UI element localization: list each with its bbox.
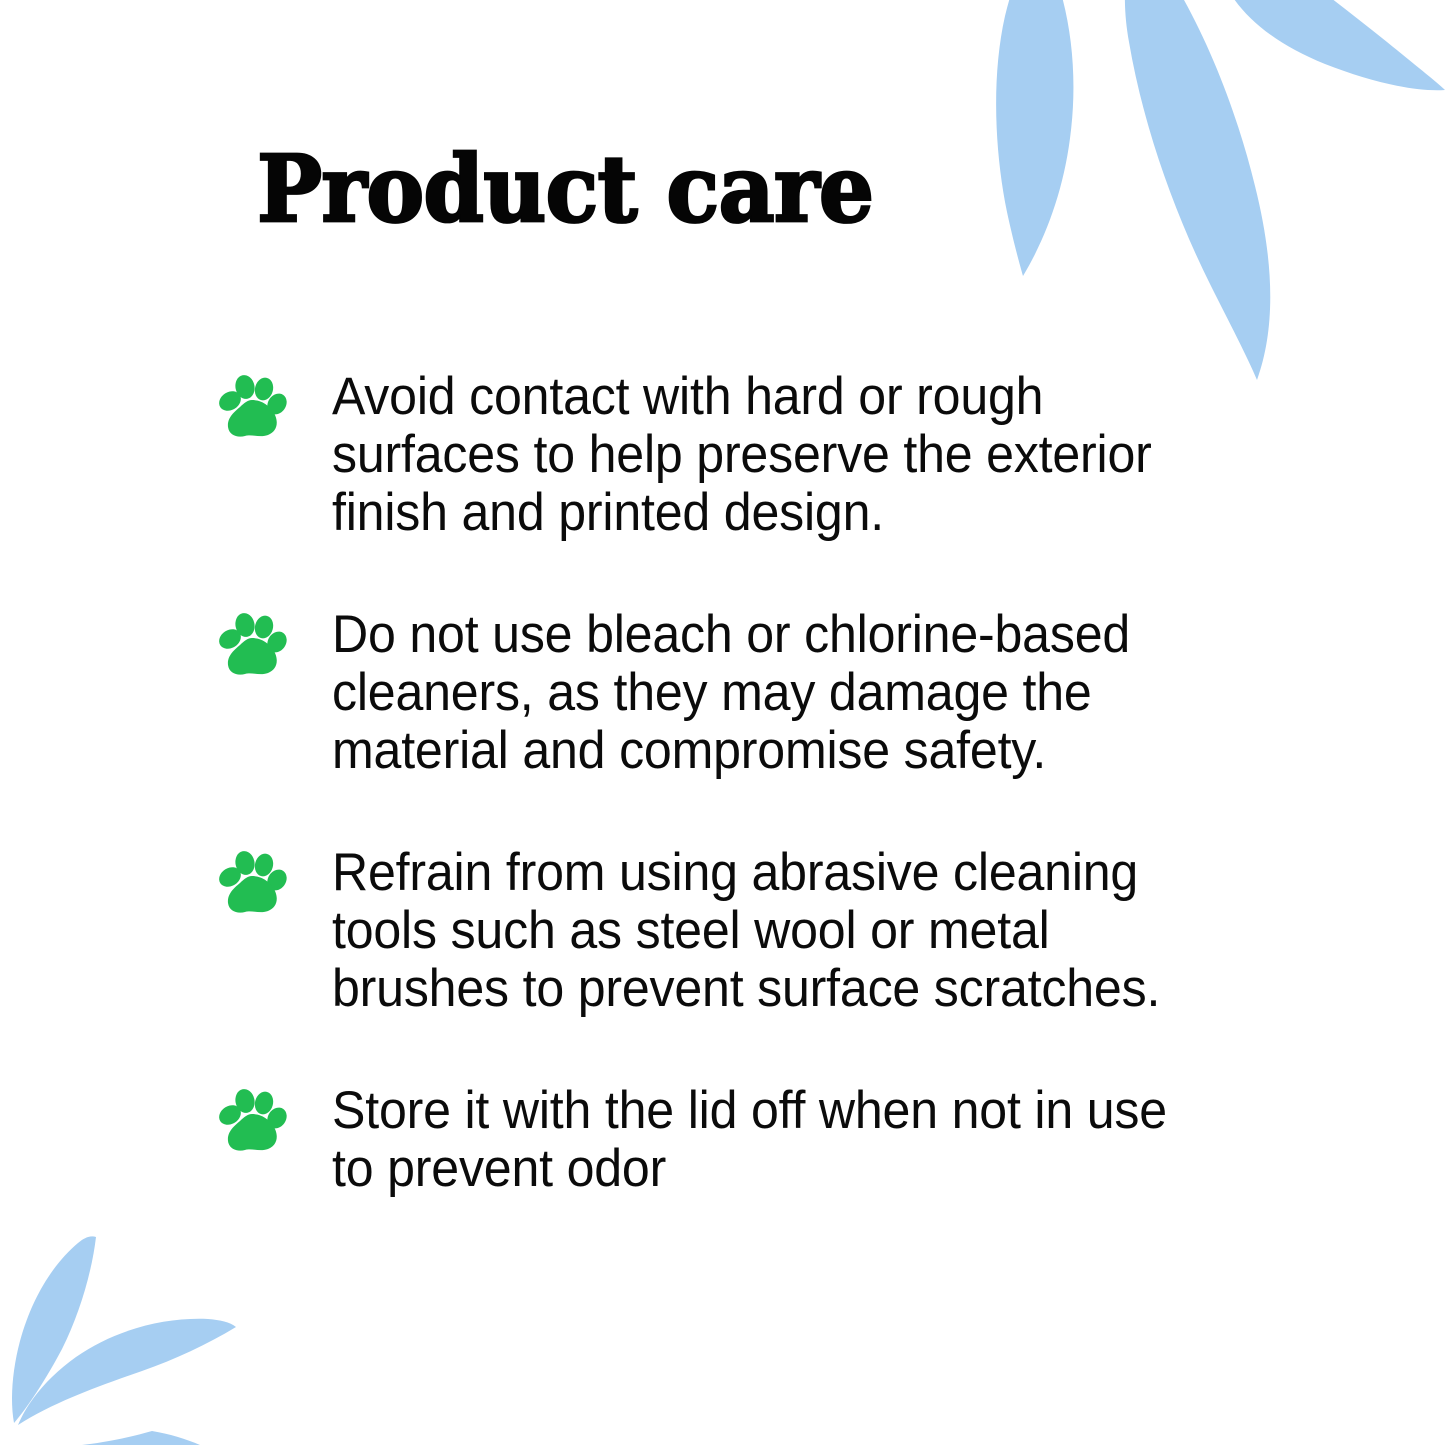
- list-item: Store it with the lid off when not in us…: [216, 1082, 1226, 1198]
- leaf-cluster-bottom-left-icon: [0, 1225, 320, 1445]
- list-item-text: Do not use bleach or chlorine-based clea…: [332, 606, 1177, 780]
- leaf-shape: [82, 1431, 200, 1445]
- leaf-shape: [1125, 0, 1270, 380]
- page-title-text: Product care: [257, 144, 873, 235]
- list-item-text: Store it with the lid off when not in us…: [332, 1082, 1177, 1198]
- paw-print-icon: [216, 850, 288, 918]
- paw-print-icon: [216, 612, 288, 680]
- leaf-shape: [12, 1236, 96, 1423]
- page-title: Product care: [0, 148, 1130, 231]
- leaf-shape: [996, 0, 1073, 276]
- list-item-text: Avoid contact with hard or rough surface…: [332, 368, 1177, 542]
- leaf-shape: [18, 1319, 236, 1425]
- paw-print-icon: [216, 374, 288, 442]
- product-care-card: Product care Avoid contact with hard or …: [0, 0, 1445, 1445]
- list-item: Do not use bleach or chlorine-based clea…: [216, 606, 1226, 780]
- care-instruction-list: Avoid contact with hard or rough surface…: [216, 368, 1226, 1198]
- list-item: Avoid contact with hard or rough surface…: [216, 368, 1226, 542]
- paw-print-icon: [216, 1088, 288, 1156]
- leaf-shape: [1219, 0, 1445, 90]
- list-item-text: Refrain from using abrasive cleaning too…: [332, 844, 1177, 1018]
- list-item: Refrain from using abrasive cleaning too…: [216, 844, 1226, 1018]
